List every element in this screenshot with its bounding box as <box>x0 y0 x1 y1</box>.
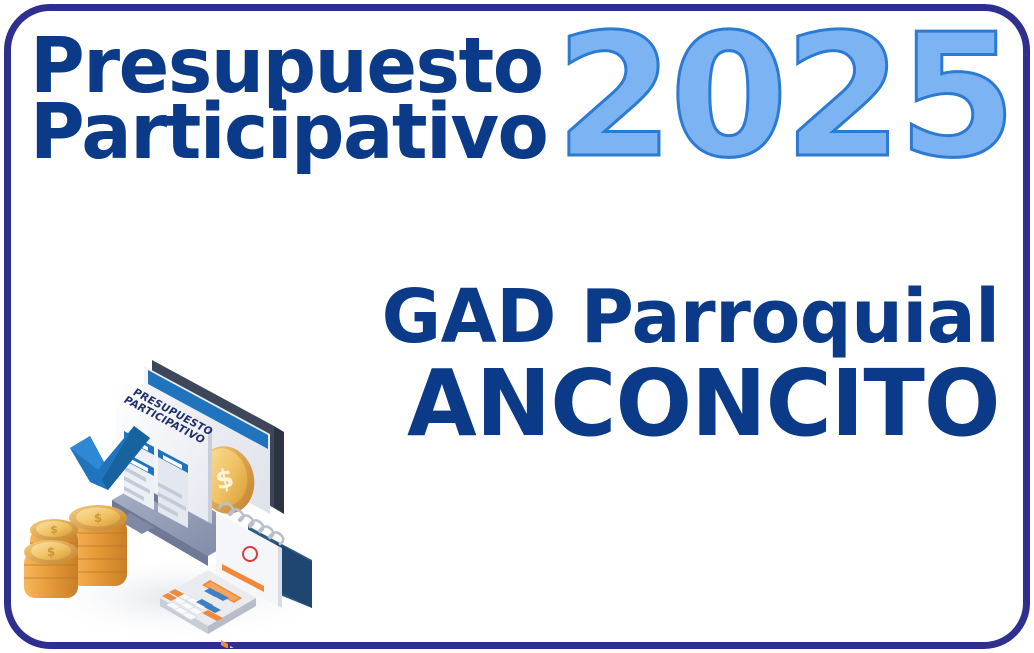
headline-block: Presupuesto Participativo 2025 <box>30 34 1010 214</box>
participatory-budget-illustration: $ PRESUPUESTO PARTICIPATIVO <box>12 330 352 648</box>
svg-text:$: $ <box>47 545 55 559</box>
coin-stack-front-left: $ <box>24 540 78 598</box>
coin-stacks: $ $ <box>24 505 127 598</box>
headline-words: Presupuesto Participativo <box>30 34 563 166</box>
laptop-screen-shell-edge <box>274 426 284 514</box>
subtitle-line-2: ANCONCITO <box>382 360 1000 447</box>
headline-line-2: Participativo <box>30 100 547 166</box>
document-sheet-edge <box>208 426 212 524</box>
poster-canvas: Presupuesto Participativo 2025 GAD Parro… <box>0 0 1034 653</box>
headline-year: 2025 <box>555 28 1012 167</box>
subtitle-block: GAD Parroquial ANCONCITO <box>369 282 1000 448</box>
svg-text:$: $ <box>50 523 58 536</box>
svg-text:$: $ <box>94 511 102 525</box>
calendar-page-edge <box>278 546 282 608</box>
subtitle-line-1: GAD Parroquial <box>382 282 1000 352</box>
